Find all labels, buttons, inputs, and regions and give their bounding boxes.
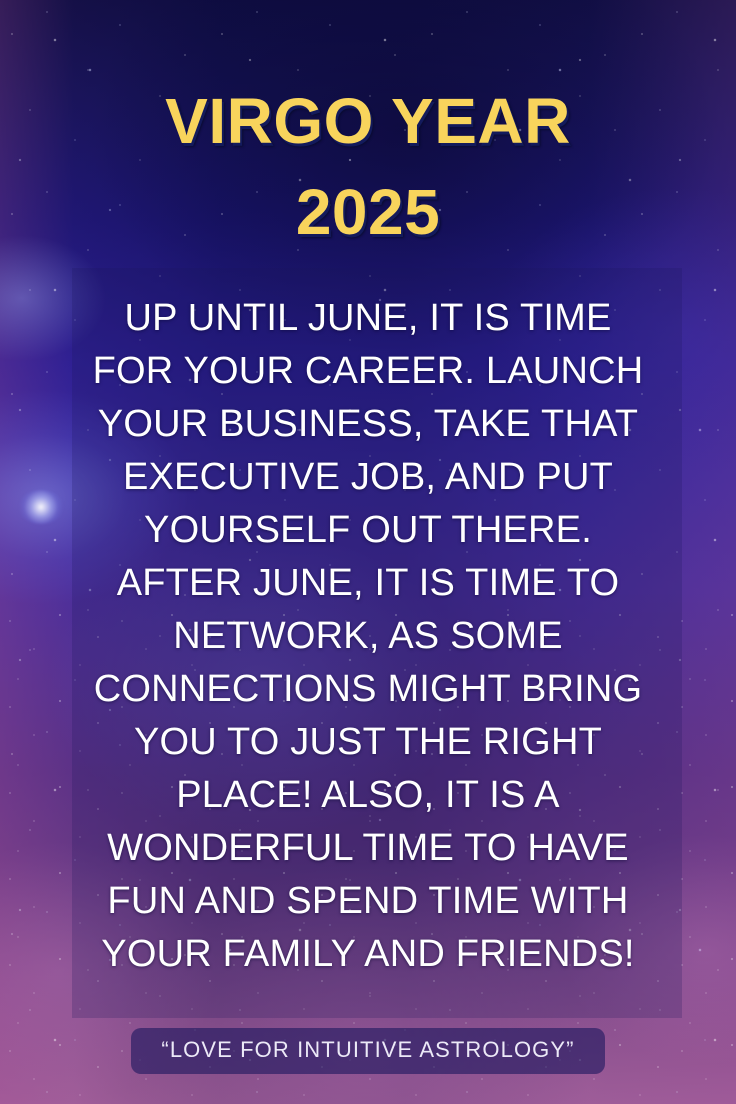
- body-line: PLACE! ALSO, IT IS A: [60, 769, 676, 822]
- body-line: FUN AND SPEND TIME WITH: [60, 875, 676, 928]
- astrology-poster: VIRGO YEAR 2025 UP UNTIL JUNE, IT IS TIM…: [0, 0, 736, 1104]
- poster-title: VIRGO YEAR 2025: [0, 76, 736, 258]
- attribution-container: “LOVE FOR INTUITIVE ASTROLOGY”: [0, 1028, 736, 1074]
- horoscope-body-text: UP UNTIL JUNE, IT IS TIME FOR YOUR CAREE…: [60, 292, 676, 981]
- attribution-badge: “LOVE FOR INTUITIVE ASTROLOGY”: [131, 1028, 604, 1074]
- body-line: YOU TO JUST THE RIGHT: [60, 716, 676, 769]
- body-line: YOUR FAMILY AND FRIENDS!: [60, 928, 676, 981]
- body-line: FOR YOUR CAREER. LAUNCH: [60, 345, 676, 398]
- body-line: EXECUTIVE JOB, AND PUT: [60, 451, 676, 504]
- body-line: AFTER JUNE, IT IS TIME TO: [60, 557, 676, 610]
- body-line: YOUR BUSINESS, TAKE THAT: [60, 398, 676, 451]
- body-line: CONNECTIONS MIGHT BRING: [60, 663, 676, 716]
- body-line: WONDERFUL TIME TO HAVE: [60, 822, 676, 875]
- title-line-2: 2025: [40, 167, 696, 258]
- body-line: NETWORK, AS SOME: [60, 610, 676, 663]
- title-line-1: VIRGO YEAR: [40, 76, 696, 167]
- body-line: YOURSELF OUT THERE.: [60, 504, 676, 557]
- poster-content: VIRGO YEAR 2025 UP UNTIL JUNE, IT IS TIM…: [0, 0, 736, 1104]
- body-line: UP UNTIL JUNE, IT IS TIME: [60, 292, 676, 345]
